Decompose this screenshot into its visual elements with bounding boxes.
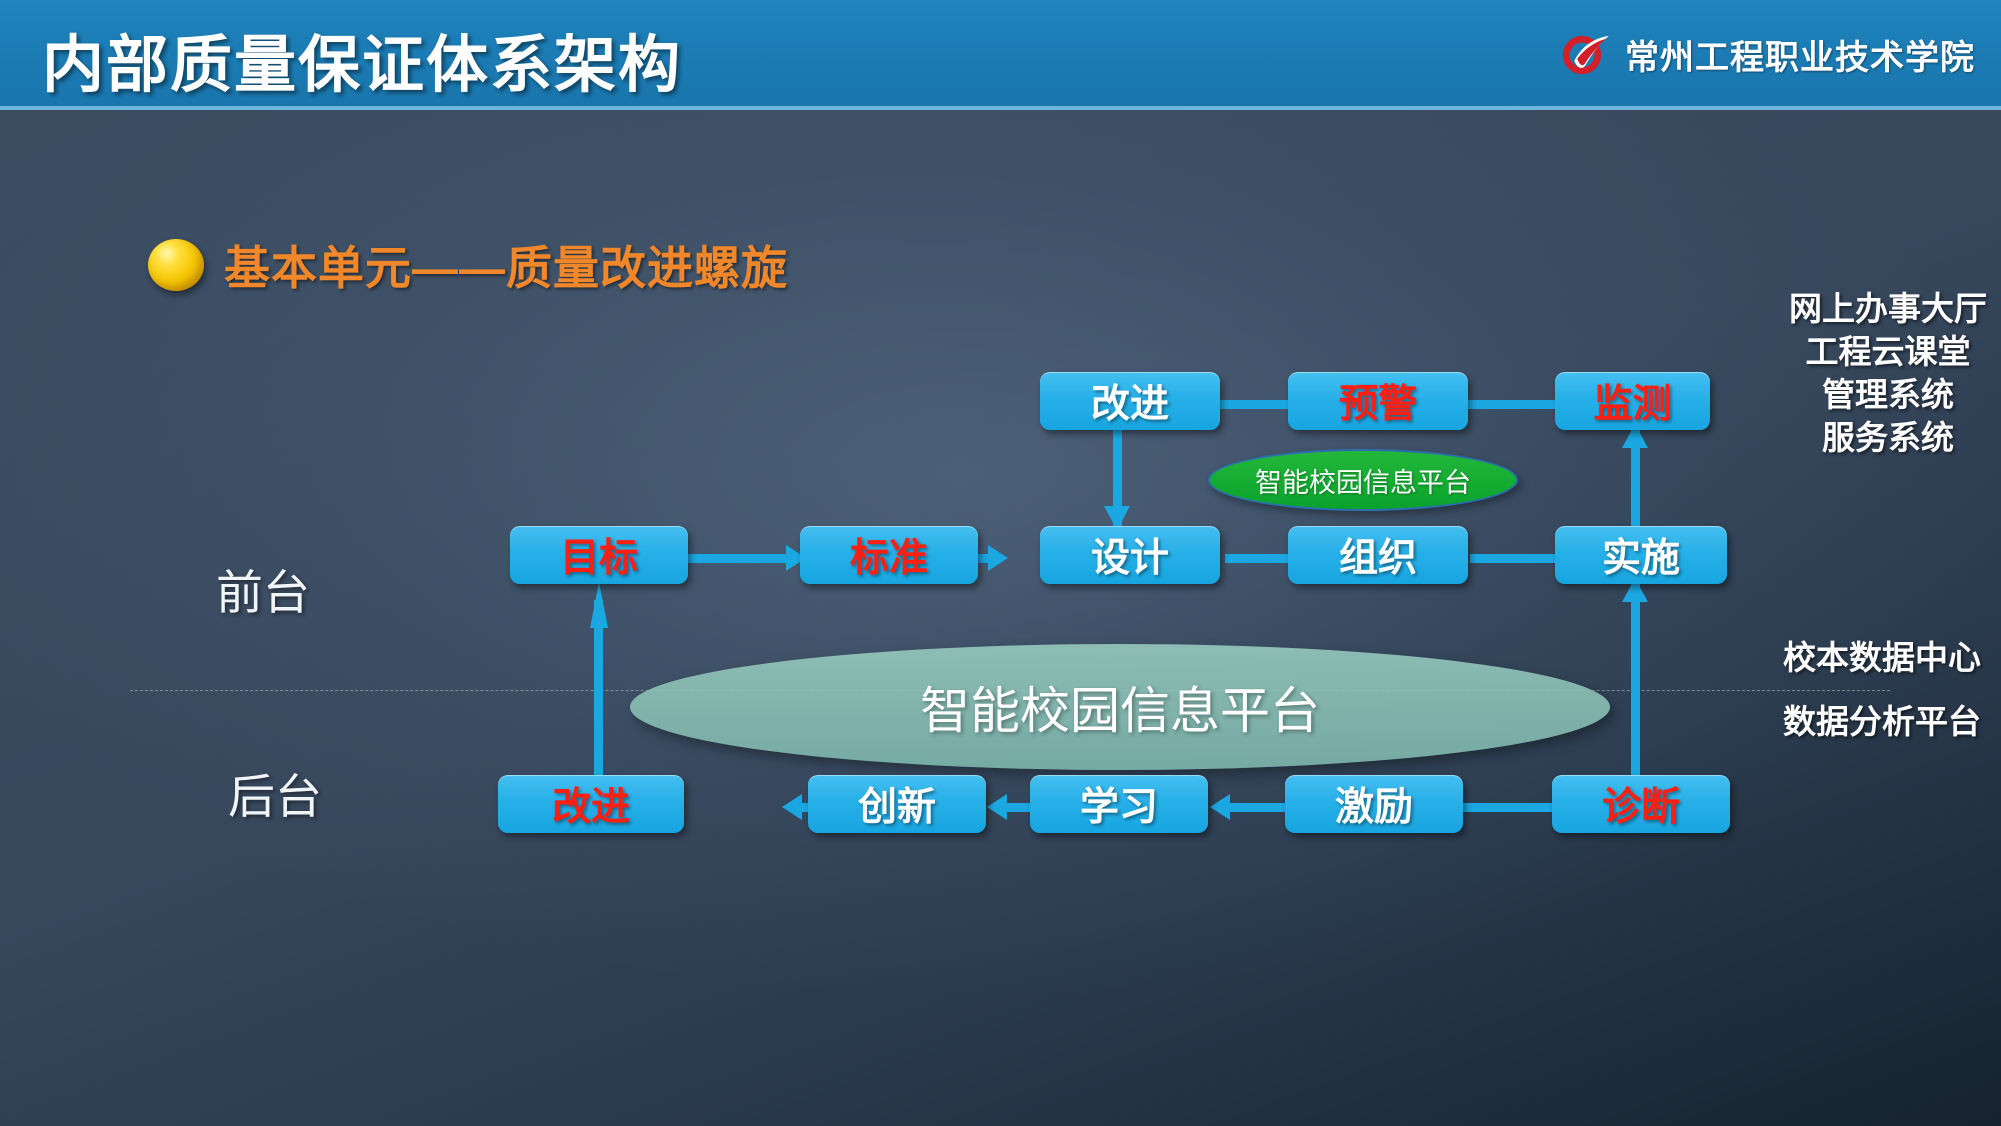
section-heading: 基本单元——质量改进螺旋 <box>148 232 788 298</box>
side-label-cloud-classroom: 工程云课堂 <box>1789 331 1987 374</box>
stage-label-front: 前台 <box>216 554 310 623</box>
connector-mubiao-to-biaozhun <box>688 554 798 563</box>
arrowhead-to-mubiao <box>590 582 608 628</box>
side-label-analysis-platform: 数据分析平台 <box>1783 690 1981 754</box>
node-jili[interactable]: 激励 <box>1285 775 1463 833</box>
side-label-management-system: 管理系统 <box>1789 374 1987 417</box>
node-label: 诊断 <box>1602 776 1680 832</box>
arrowhead-to-sheji-h <box>988 545 1008 571</box>
node-chuangxin[interactable]: 创新 <box>808 775 986 833</box>
platform-ellipse-large: 智能校园信息平台 <box>630 644 1610 770</box>
node-zhenduan[interactable]: 诊断 <box>1552 775 1730 833</box>
side-label-service-system: 服务系统 <box>1789 417 1987 460</box>
platform-ellipse-small: 智能校园信息平台 <box>1208 449 1518 511</box>
slide-header: 内部质量保证体系架构 常州工程职业技术学院 <box>0 0 2001 110</box>
node-label: 设计 <box>1091 527 1169 583</box>
node-sheji[interactable]: 设计 <box>1040 526 1220 584</box>
node-shishi[interactable]: 实施 <box>1555 526 1727 584</box>
node-biaozhun[interactable]: 标准 <box>800 526 978 584</box>
node-gaijin-bottom[interactable]: 改进 <box>498 775 684 833</box>
arrowhead-to-xuexi <box>1210 794 1230 820</box>
node-yujing[interactable]: 预警 <box>1288 372 1468 430</box>
gold-sphere-bullet-icon <box>148 239 204 291</box>
node-gaijin-top[interactable]: 改进 <box>1040 372 1220 430</box>
node-label: 创新 <box>858 776 936 832</box>
institution-logo: 常州工程职业技术学院 <box>1553 30 1975 79</box>
node-label: 目标 <box>560 527 638 583</box>
section-heading-text: 基本单元——质量改进螺旋 <box>224 232 788 298</box>
slide-canvas: 内部质量保证体系架构 常州工程职业技术学院 基本单元——质量改进螺旋 前台 后台… <box>0 0 2001 1126</box>
side-labels-top: 网上办事大厅 工程云课堂 管理系统 服务系统 <box>1789 288 1987 460</box>
node-label: 学习 <box>1080 776 1158 832</box>
page-title: 内部质量保证体系架构 <box>42 14 682 104</box>
node-label: 激励 <box>1335 776 1413 832</box>
arrowhead-to-gaijin-bottom <box>782 794 802 820</box>
node-jiance[interactable]: 监测 <box>1555 372 1710 430</box>
arrowhead-to-chuangxin <box>987 794 1007 820</box>
connector-zhenduan-to-shishi <box>1631 584 1640 784</box>
side-label-data-center: 校本数据中心 <box>1783 626 1981 690</box>
node-label: 改进 <box>552 776 630 832</box>
node-label: 实施 <box>1602 527 1680 583</box>
node-xuexi[interactable]: 学习 <box>1030 775 1208 833</box>
side-labels-bottom: 校本数据中心 数据分析平台 <box>1783 626 1981 755</box>
node-label: 组织 <box>1339 527 1417 583</box>
platform-ellipse-small-label: 智能校园信息平台 <box>1255 461 1471 500</box>
node-label: 改进 <box>1091 373 1169 429</box>
stage-label-back: 后台 <box>228 758 322 827</box>
logo-text: 常州工程职业技术学院 <box>1625 30 1975 79</box>
node-label: 监测 <box>1593 373 1671 429</box>
node-label: 标准 <box>850 527 928 583</box>
node-mubiao[interactable]: 目标 <box>510 526 688 584</box>
swoosh-emblem-icon <box>1553 32 1611 78</box>
node-zuzhi[interactable]: 组织 <box>1288 526 1468 584</box>
platform-ellipse-large-label: 智能校园信息平台 <box>920 671 1320 743</box>
side-label-online-hall: 网上办事大厅 <box>1789 288 1987 331</box>
node-label: 预警 <box>1339 373 1417 429</box>
